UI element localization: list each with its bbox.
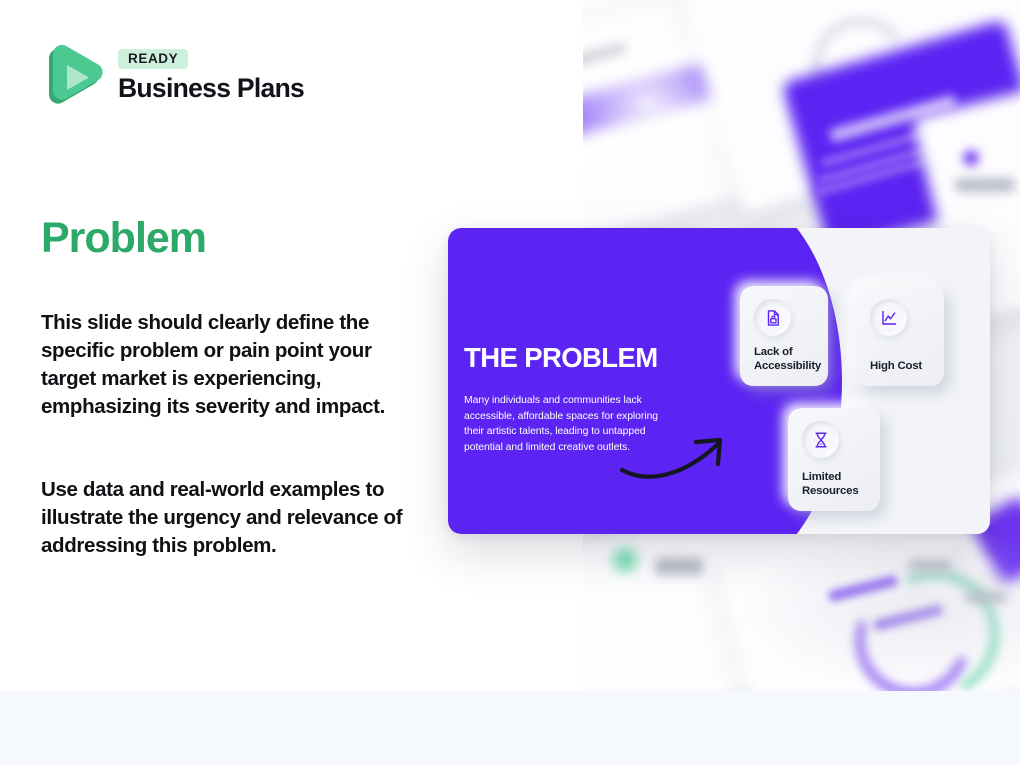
hourglass-icon [802, 421, 839, 458]
feature-card-high-cost[interactable]: High Cost [856, 286, 944, 386]
ready-badge: READY [118, 49, 188, 70]
bg-dot-green [613, 548, 637, 572]
slide-preview-page: READY Business Plans Problem This slide … [0, 0, 1020, 765]
curved-arrow-up-right-icon [618, 426, 738, 484]
feature-card-lack-of-accessibility[interactable]: Lack of Accessibility [740, 286, 828, 386]
bottom-band [0, 691, 1020, 765]
bg-dot [963, 150, 979, 166]
line-chart-icon [870, 299, 907, 336]
slide-heading: THE PROBLEM [464, 344, 658, 372]
bg-chip [655, 558, 703, 575]
bg-chip [955, 178, 1015, 192]
brand-lockup: READY Business Plans [41, 40, 304, 112]
bg-chip [965, 592, 1007, 603]
feature-card-limited-resources[interactable]: Limited Resources [788, 408, 880, 511]
feature-label: Limited Resources [802, 471, 866, 498]
brand-text: READY Business Plans [118, 49, 304, 104]
description-paragraph-2: Use data and real-world examples to illu… [41, 476, 421, 560]
document-lock-icon [754, 299, 791, 336]
description-paragraph-1: This slide should clearly define the spe… [41, 309, 421, 421]
feature-label: High Cost [870, 360, 930, 373]
page-title: Problem [41, 217, 206, 260]
feature-label: Lack of Accessibility [754, 346, 814, 373]
slide-preview-card[interactable]: THE PROBLEM Many individuals and communi… [448, 228, 990, 534]
slide-purple-panel [448, 228, 726, 534]
bg-chip [908, 560, 952, 571]
play-triangle-logo-icon [41, 40, 105, 112]
brand-name: Business Plans [118, 73, 304, 103]
